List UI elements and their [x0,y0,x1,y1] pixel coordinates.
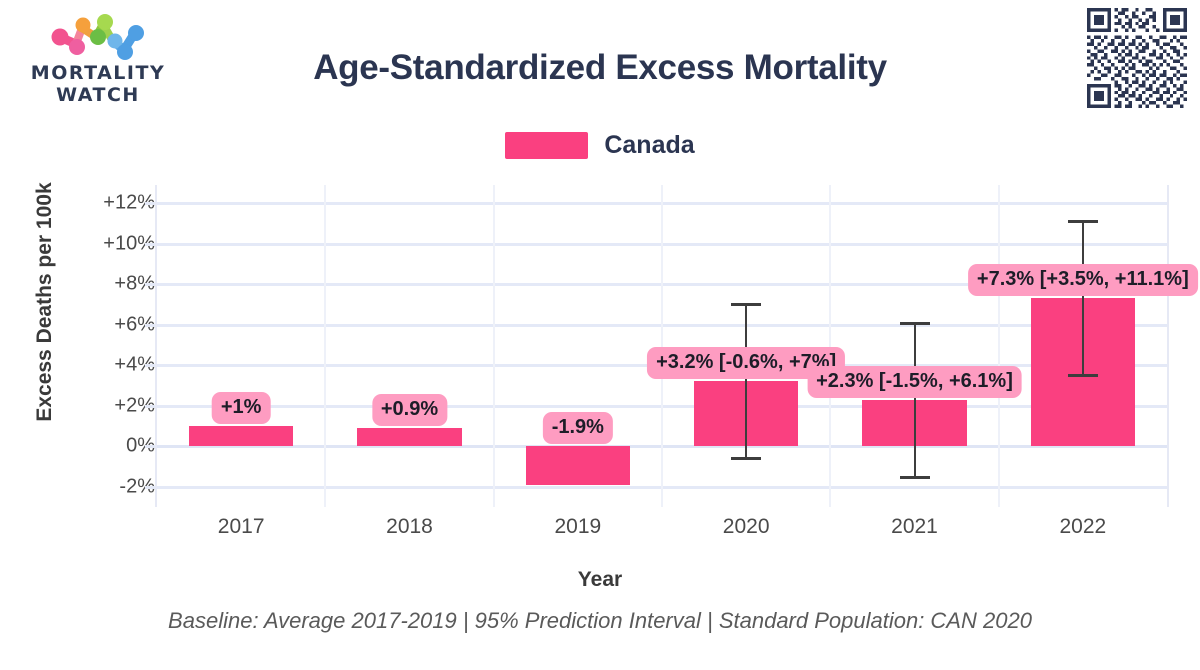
vertical-gridline [661,185,663,507]
error-bar-2021 [914,323,916,477]
x-axis-tick-2019: 2019 [488,515,668,539]
data-label-2019: -1.9% [543,412,613,444]
error-bar-cap-upper-2020 [731,303,761,306]
y-axis-tick-label: +4% [35,354,155,377]
y-axis-tick-mark [145,445,155,448]
error-bar-cap-lower-2022 [1068,374,1098,377]
x-axis-tick-2021: 2021 [825,515,1005,539]
vertical-gridline [324,185,326,507]
data-label-2022: +7.3% [+3.5%, +11.1%] [968,264,1198,296]
x-axis-tick-2022: 2022 [993,515,1173,539]
y-axis-tick-label: +6% [35,313,155,336]
y-axis-tick-mark [145,324,155,327]
x-axis-tick-2017: 2017 [151,515,331,539]
bar-2018[interactable] [357,428,461,446]
vertical-gridline [493,185,495,507]
y-axis-tick-mark [145,486,155,489]
error-bar-cap-lower-2021 [900,476,930,479]
y-axis-tick-label: +12% [35,192,155,215]
chart-plot-wrapper: Excess Deaths per 100k +12%+10%+8%+6%+4%… [0,0,1200,670]
chart-caption: Baseline: Average 2017-2019 | 95% Predic… [0,608,1200,634]
y-axis-tick-label: -2% [35,475,155,498]
x-axis-title: Year [0,568,1200,592]
bar-2019[interactable] [526,446,630,484]
y-axis-tick-mark [145,364,155,367]
y-axis-tick-mark [145,405,155,408]
error-bar-cap-lower-2020 [731,457,761,460]
y-axis-tick-label: +10% [35,232,155,255]
data-label-2018: +0.9% [372,394,447,426]
y-axis-tick-mark [145,283,155,286]
y-axis-tick-mark [145,243,155,246]
bar-2017[interactable] [189,426,293,446]
vertical-gridline [998,185,1000,507]
vertical-gridline [829,185,831,507]
y-axis-tick-label: 0% [35,435,155,458]
y-axis-tick-mark [145,202,155,205]
plot-area: +12%+10%+8%+6%+4%+2%0%-2%+1%2017+0.9%201… [155,185,1169,507]
error-bar-2020 [745,304,747,458]
y-axis-tick-label: +8% [35,273,155,296]
x-axis-tick-2020: 2020 [656,515,836,539]
error-bar-cap-upper-2021 [900,322,930,325]
y-axis-tick-label: +2% [35,394,155,417]
x-axis-tick-2018: 2018 [320,515,500,539]
error-bar-cap-upper-2022 [1068,220,1098,223]
data-label-2021: +2.3% [-1.5%, +6.1%] [807,366,1022,398]
error-bar-2022 [1082,221,1084,375]
data-label-2017: +1% [212,392,271,424]
